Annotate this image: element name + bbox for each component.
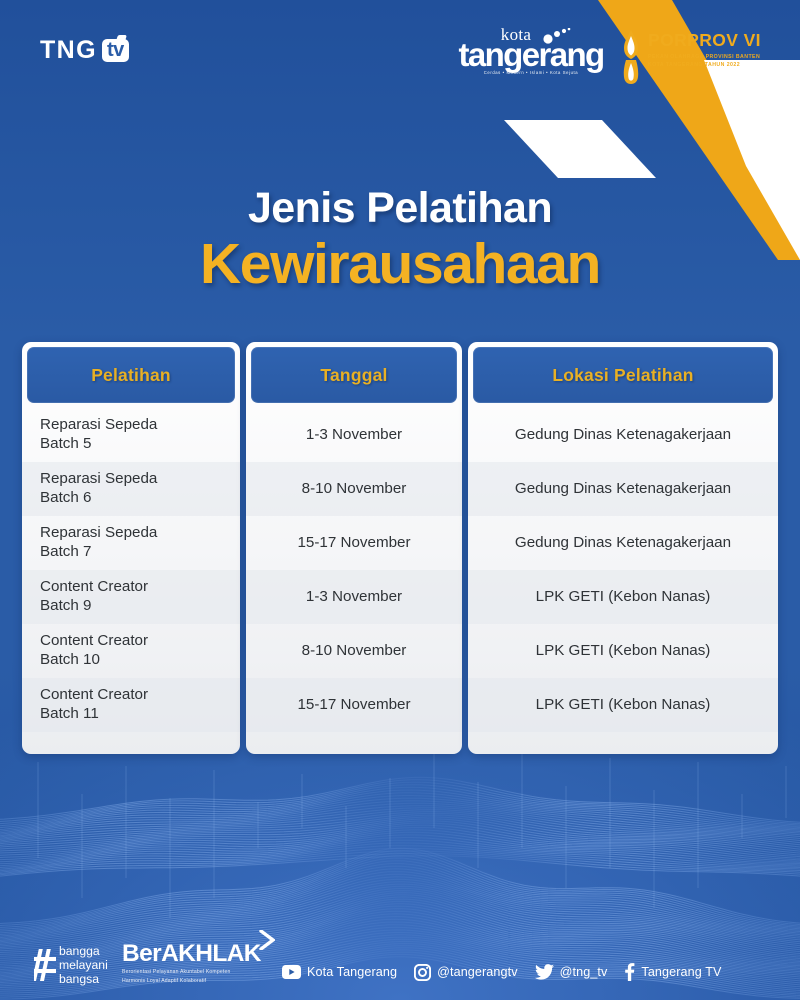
table-row: Gedung Dinas Ketenagakerjaan: [468, 408, 778, 462]
bangga-melayani-bangsa-logo: bangga melayani bangsa: [34, 944, 108, 986]
cell-pelatihan-line1: Content Creator: [40, 632, 148, 651]
table-column-tanggal: Tanggal 1-3 November 8-10 November 15-17…: [246, 342, 462, 754]
social-link-youtube[interactable]: Kota Tangerang: [282, 965, 397, 979]
social-label-instagram: @tangerangtv: [437, 965, 518, 979]
column-header-pelatihan: Pelatihan: [27, 347, 235, 403]
table-row: LPK GETI (Kebon Nanas): [468, 624, 778, 678]
berakhlak-title: BerAKHLAK: [122, 942, 261, 967]
table-row: LPK GETI (Kebon Nanas): [468, 570, 778, 624]
social-label-twitter: @tng_tv: [560, 965, 608, 979]
column-header-tanggal: Tanggal: [251, 347, 457, 403]
page-title: Jenis Pelatihan Kewirausahaan: [0, 186, 800, 295]
social-link-twitter[interactable]: @tng_tv: [535, 964, 608, 980]
header-bar: TNG tv kota tangerang Cerdas • Modern • …: [0, 0, 800, 110]
cell-pelatihan-line2: Batch 10: [40, 651, 148, 670]
porprov-subtitle-2: KOTA TANGERANG TAHUN 2022: [648, 61, 783, 69]
tngtv-word: TNG: [40, 36, 97, 65]
social-label-facebook: Tangerang TV: [641, 965, 721, 979]
cell-pelatihan-line2: Batch 5: [40, 435, 157, 454]
table-row: 8-10 November: [246, 462, 462, 516]
twitter-icon: [535, 964, 554, 980]
bangga-text: bangga melayani bangsa: [59, 944, 108, 986]
title-line-1: Jenis Pelatihan: [0, 186, 800, 232]
column-cells-lokasi: Gedung Dinas Ketenagakerjaan Gedung Dina…: [468, 408, 778, 754]
table-row: Content Creator Batch 11: [22, 678, 240, 732]
table-column-lokasi: Lokasi Pelatihan Gedung Dinas Ketenagake…: [468, 342, 778, 754]
social-link-facebook[interactable]: Tangerang TV: [624, 963, 721, 981]
white-parallelogram-small: [504, 120, 656, 178]
kota-logo-dots-icon: [543, 28, 573, 44]
hashtag-icon: [34, 948, 56, 982]
chevron-right-icon: [259, 930, 275, 950]
training-schedule-table: Pelatihan Reparasi Sepeda Batch 5 Repara…: [22, 342, 778, 754]
bangga-line-2: melayani: [59, 958, 108, 972]
social-link-instagram[interactable]: @tangerangtv: [414, 964, 518, 981]
footer-bar: bangga melayani bangsa BerAKHLAK Berorie…: [0, 930, 800, 992]
table-row: LPK GETI (Kebon Nanas): [468, 678, 778, 732]
bangga-line-3: bangsa: [59, 972, 108, 986]
berakhlak-title-b: AKHLAK: [161, 940, 261, 967]
instagram-icon: [414, 964, 431, 981]
table-row: 1-3 November: [246, 408, 462, 462]
cell-pelatihan-line1: Content Creator: [40, 686, 148, 705]
bangga-line-1: bangga: [59, 944, 108, 958]
cell-pelatihan-line2: Batch 6: [40, 489, 157, 508]
kota-tangerang-logo: kota tangerang Cerdas • Modern • Islami …: [455, 26, 607, 75]
table-row: Reparasi Sepeda Batch 7: [22, 516, 240, 570]
cell-pelatihan-line2: Batch 11: [40, 705, 148, 724]
kota-logo-line2: tangerang: [455, 40, 607, 69]
berakhlak-logo: BerAKHLAK Berorientasi Pelayanan Akuntab…: [122, 942, 261, 986]
table-row: 15-17 November: [246, 516, 462, 570]
column-header-tanggal-label: Tanggal: [320, 365, 387, 386]
porprov-title: PORPROV VI: [648, 32, 783, 50]
berakhlak-sub-2: Harmonis Loyal Adaptif Kolaboratif: [122, 978, 261, 986]
youtube-icon: [282, 965, 301, 979]
cell-pelatihan-line1: Reparasi Sepeda: [40, 416, 157, 435]
column-header-lokasi: Lokasi Pelatihan: [473, 347, 773, 403]
table-row: 15-17 November: [246, 678, 462, 732]
table-row: Gedung Dinas Ketenagakerjaan: [468, 516, 778, 570]
social-links: Kota Tangerang @tangerangtv @tng_tv Tang…: [282, 963, 786, 981]
table-row: Content Creator Batch 10: [22, 624, 240, 678]
porprov-logo: PORPROV VI PEKAN OLAHRAGA PROVINSI BANTE…: [648, 32, 783, 69]
cell-pelatihan-line1: Content Creator: [40, 578, 148, 597]
table-row: Reparasi Sepeda Batch 5: [22, 408, 240, 462]
porprov-torch-icon: [614, 27, 648, 85]
table-row: 8-10 November: [246, 624, 462, 678]
cell-pelatihan-line1: Reparasi Sepeda: [40, 470, 157, 489]
column-cells-pelatihan: Reparasi Sepeda Batch 5 Reparasi Sepeda …: [22, 408, 240, 754]
facebook-icon: [624, 963, 635, 981]
cell-pelatihan-line2: Batch 9: [40, 597, 148, 616]
tngtv-logo[interactable]: TNG tv: [40, 36, 129, 65]
tngtv-tv-badge: tv: [102, 39, 129, 62]
kota-logo-tagline: Cerdas • Modern • Islami • Kota Sejuta: [455, 70, 607, 76]
porprov-subtitle-1: PEKAN OLAHRAGA PROVINSI BANTEN: [648, 53, 783, 61]
table-row: Content Creator Batch 9: [22, 570, 240, 624]
berakhlak-sub-1: Berorientasi Pelayanan Akuntabel Kompete…: [122, 969, 261, 977]
table-row: Reparasi Sepeda Batch 6: [22, 462, 240, 516]
column-cells-tanggal: 1-3 November 8-10 November 15-17 Novembe…: [246, 408, 462, 754]
column-header-pelatihan-label: Pelatihan: [91, 365, 171, 386]
cell-pelatihan-line1: Reparasi Sepeda: [40, 524, 157, 543]
table-row: 1-3 November: [246, 570, 462, 624]
cell-pelatihan-line2: Batch 7: [40, 543, 157, 562]
table-row: Gedung Dinas Ketenagakerjaan: [468, 462, 778, 516]
column-header-lokasi-label: Lokasi Pelatihan: [552, 365, 693, 386]
berakhlak-title-a: Ber: [122, 940, 161, 967]
social-label-youtube: Kota Tangerang: [307, 965, 397, 979]
table-column-pelatihan: Pelatihan Reparasi Sepeda Batch 5 Repara…: [22, 342, 240, 754]
title-line-2: Kewirausahaan: [0, 234, 800, 296]
